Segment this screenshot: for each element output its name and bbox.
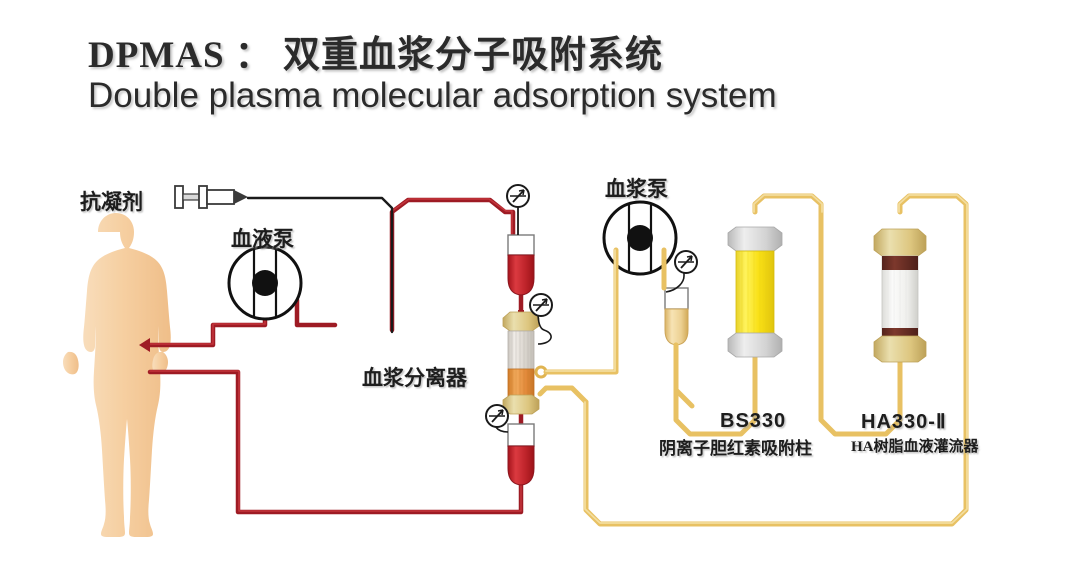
label-anticoagulant: 抗凝剂 (80, 186, 143, 216)
ha330-adsorption-column (874, 229, 926, 362)
label-plasma-pump: 血浆泵 (605, 173, 668, 203)
label-bs330-name: 阴离子胆红素吸附柱 (659, 434, 812, 459)
page-title-en: Double plasma molecular adsorption syste… (88, 76, 777, 116)
plasma-drip-chamber (665, 288, 688, 345)
label-blood-pump: 血液泵 (231, 223, 294, 253)
label-bs330-model: BS330 (720, 410, 786, 433)
diagram-canvas: DPMAS ： 双重血浆分子吸附系统 Double plasma molecul… (0, 0, 1079, 584)
syringe-icon (175, 186, 248, 208)
patient-silhouette-icon (63, 213, 171, 537)
label-ha330-model: HA330-Ⅱ (861, 409, 947, 434)
bs330-adsorption-column (728, 227, 782, 357)
pressure-gauge-icon (486, 405, 508, 432)
blood-tubing-path (150, 200, 521, 512)
page-title-cn: DPMAS ： 双重血浆分子吸附系统 (88, 24, 663, 78)
label-ha330-name: HA树脂血液灌流器 (851, 435, 979, 456)
venous-drip-chamber (508, 424, 534, 485)
label-plasma-separator: 血浆分离器 (362, 362, 467, 392)
plasma-separator-device (503, 312, 546, 414)
blood-pump-icon[interactable] (229, 247, 301, 319)
arterial-drip-chamber (508, 235, 534, 295)
blood-tubing-highlight (150, 199, 521, 511)
